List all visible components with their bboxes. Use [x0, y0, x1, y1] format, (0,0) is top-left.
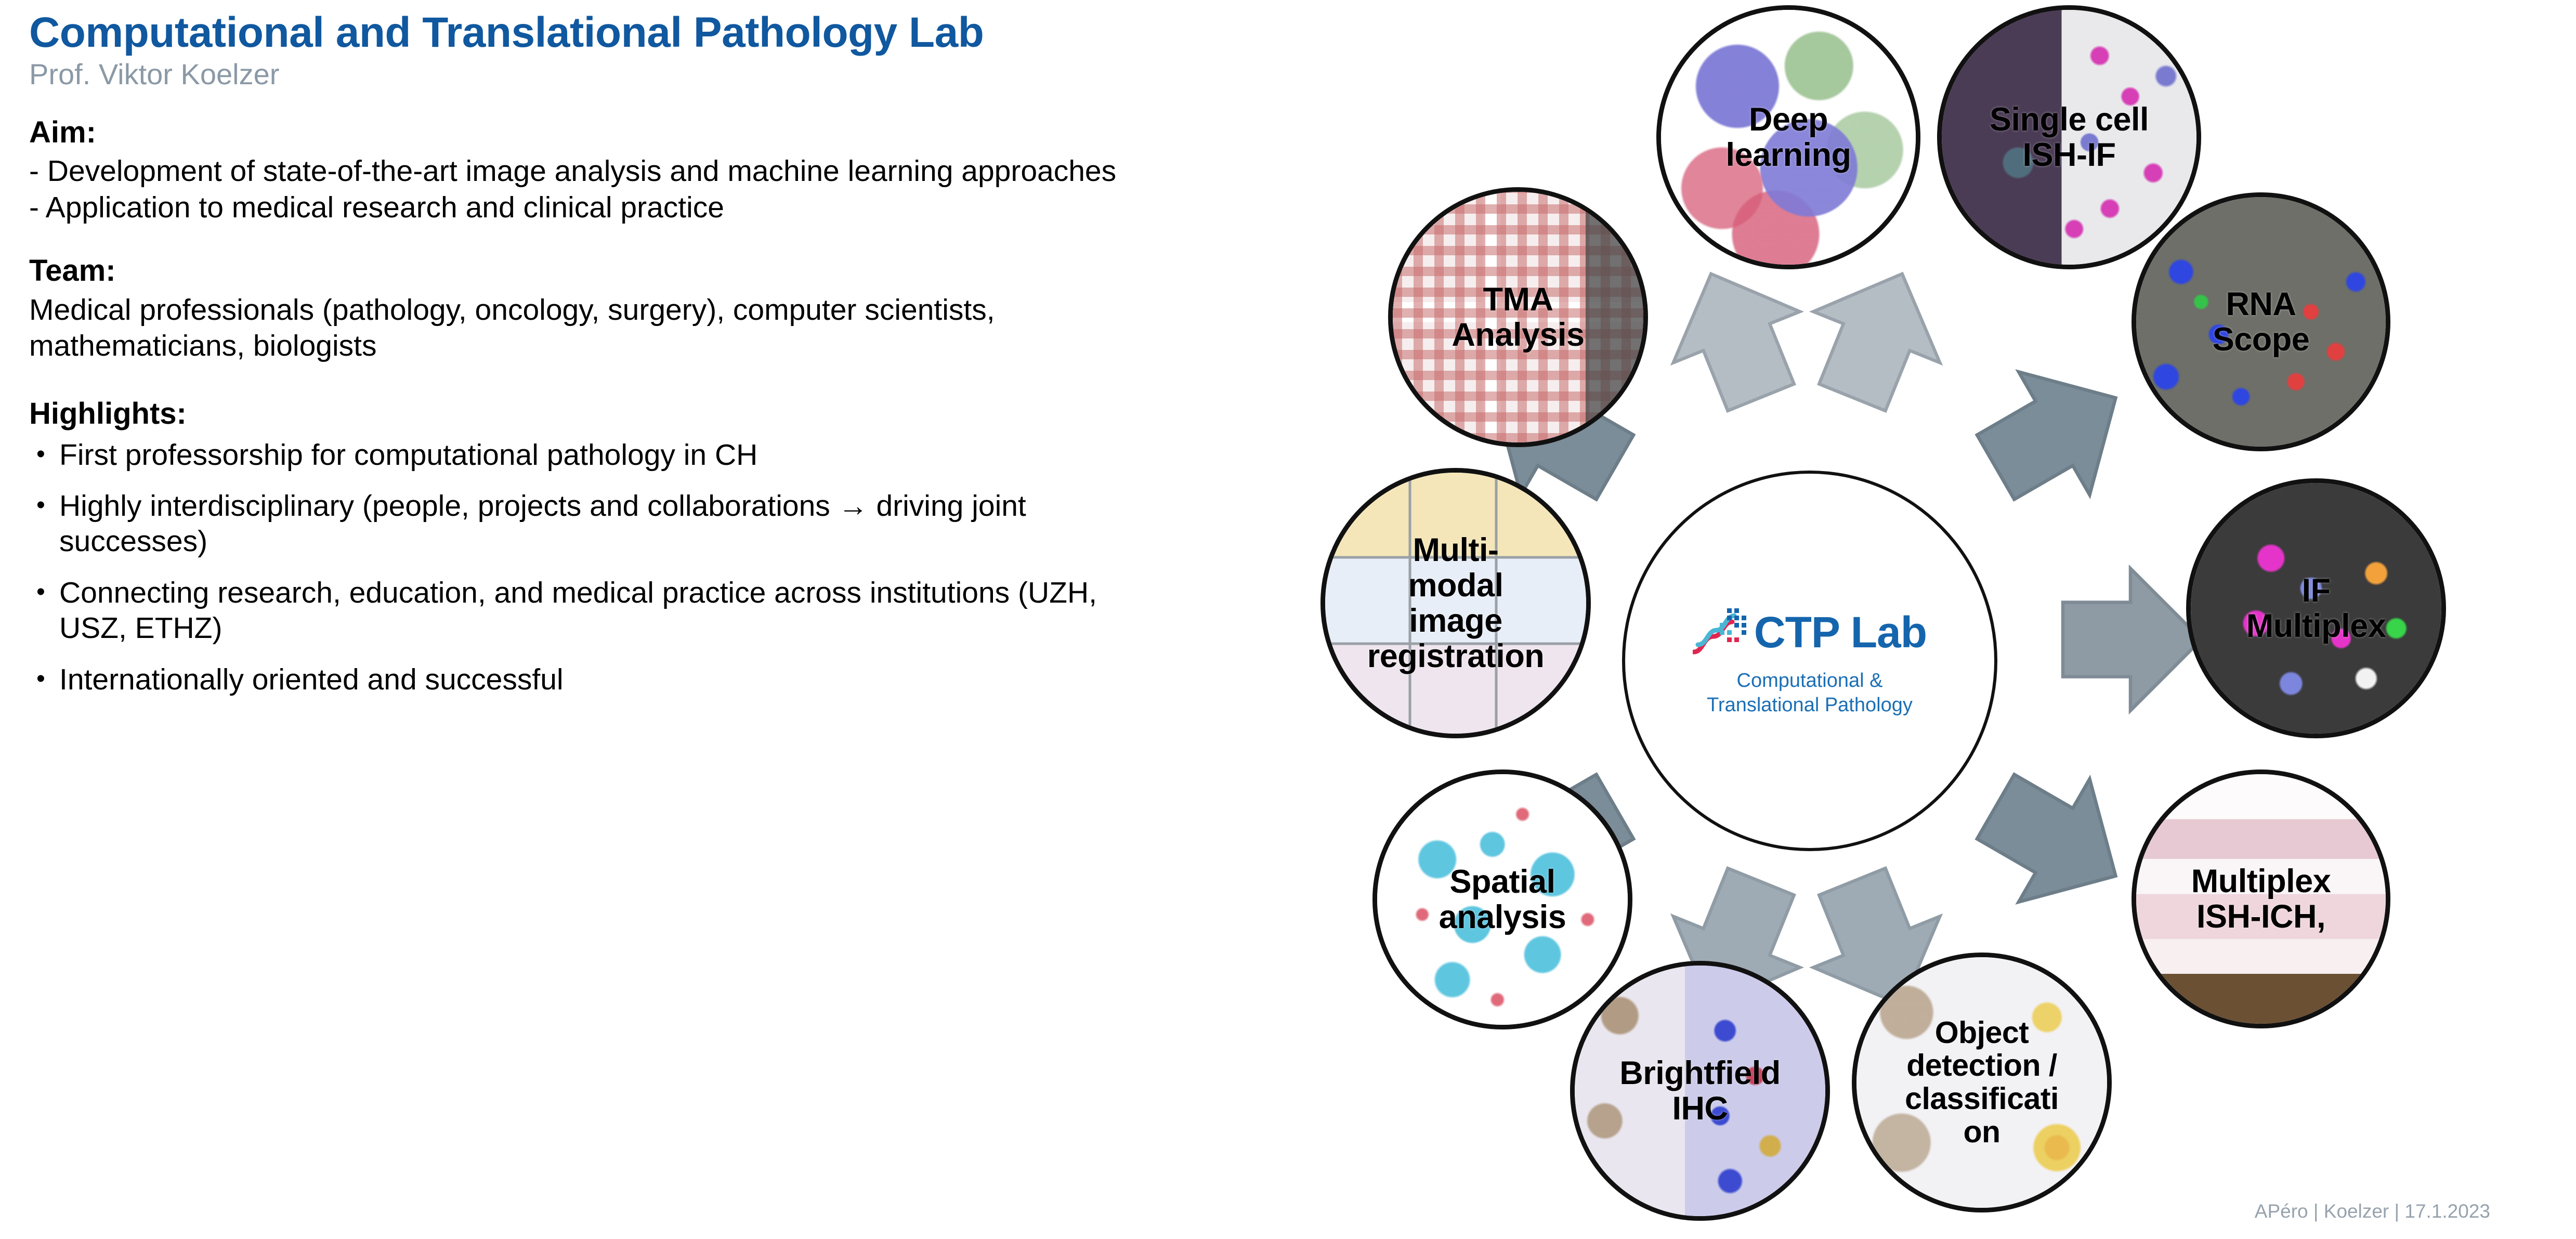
node-label: BrightfieldIHC [1616, 1055, 1783, 1126]
list-item-label: Highly interdisciplinary (people, projec… [59, 489, 1026, 558]
node-tma-analysis[interactable]: TMAAnalysis [1388, 187, 1648, 447]
bullet-icon: • [36, 489, 45, 521]
node-label: Spatialanalysis [1436, 864, 1570, 935]
node-label: Deeplearning [1722, 102, 1854, 173]
slide-text-column: Computational and Translational Patholog… [29, 10, 1131, 713]
ctp-lab-logo: CTP Lab Computational & Translational Pa… [1693, 604, 1927, 718]
node-spatial-analysis[interactable]: Spatialanalysis [1372, 770, 1632, 1029]
ctp-logo-mark-icon [1693, 604, 1754, 660]
hub-logo-subtitle-line2: Translational Pathology [1707, 693, 1913, 718]
hub-logo-subtitle-line1: Computational & [1707, 669, 1913, 694]
node-multimodal-registration[interactable]: Multi-modalimageregistration [1320, 468, 1591, 738]
spacer [29, 364, 1131, 396]
list-item: • Internationally oriented and successfu… [29, 662, 1131, 697]
ctp-lab-hub-and-spoke-diagram: CTP Lab Computational & Translational Pa… [1092, 0, 2576, 1239]
list-item: • Connecting research, education, and me… [29, 575, 1131, 646]
node-label: Objectdetection /classification [1902, 1016, 2062, 1149]
bullet-icon: • [36, 576, 45, 608]
node-label: MultiplexISH-ICH, [2188, 864, 2334, 934]
aim-line-2: - Application to medical research and cl… [29, 190, 1131, 226]
node-multiplex-ish-ich[interactable]: MultiplexISH-ICH, [2132, 770, 2390, 1028]
list-item: • Highly interdisciplinary (people, proj… [29, 488, 1131, 559]
arrow-northeast-icon [1960, 336, 2151, 529]
node-deep-learning[interactable]: Deeplearning [1656, 5, 1920, 269]
node-label: IFMultiplex [2243, 573, 2389, 644]
node-rna-scope[interactable]: RNAScope [2132, 192, 2390, 451]
center-hub: CTP Lab Computational & Translational Pa… [1622, 471, 1997, 851]
aim-line-1: - Development of state-of-the-art image … [29, 153, 1131, 190]
node-label: RNAScope [2209, 286, 2313, 357]
hub-logo-title: CTP Lab [1754, 610, 1927, 654]
page-subtitle: Prof. Viktor Koelzer [29, 58, 1131, 90]
aim-section: Aim: - Development of state-of-the-art i… [29, 114, 1131, 226]
list-item: • First professorship for computational … [29, 437, 1131, 473]
arrow-up-right-icon [1789, 249, 1965, 423]
list-item-label: Connecting research, education, and medi… [59, 576, 1097, 645]
arrow-up-left-icon [1647, 249, 1824, 423]
bullet-icon: • [36, 438, 45, 471]
list-item-label: Internationally oriented and successful [59, 663, 564, 696]
node-label: TMAAnalysis [1448, 282, 1587, 353]
bullet-icon: • [36, 663, 45, 695]
team-section: Team: Medical professionals (pathology, … [29, 253, 1131, 364]
aim-heading: Aim: [29, 114, 1131, 151]
node-if-multiplex[interactable]: IFMultiplex [2186, 478, 2446, 738]
node-object-detection[interactable]: Objectdetection /classification [1852, 953, 2112, 1212]
list-item-label: First professorship for computational pa… [59, 438, 757, 472]
team-heading: Team: [29, 253, 1131, 289]
node-label: Multi-modalimageregistration [1364, 532, 1548, 674]
team-body: Medical professionals (pathology, oncolo… [29, 292, 1131, 364]
slide-footer: APéro | Koelzer | 17.1.2023 [2255, 1201, 2490, 1222]
arrow-east-icon [2063, 569, 2202, 711]
highlights-heading: Highlights: [29, 396, 1131, 432]
page-title: Computational and Translational Patholog… [29, 10, 1131, 55]
spacer [29, 226, 1131, 253]
arrow-southeast-icon [1960, 745, 2151, 937]
highlights-list: • First professorship for computational … [29, 437, 1131, 697]
node-label: Single cellISH-IF [1986, 102, 2152, 173]
highlights-section: Highlights: • First professorship for co… [29, 396, 1131, 697]
